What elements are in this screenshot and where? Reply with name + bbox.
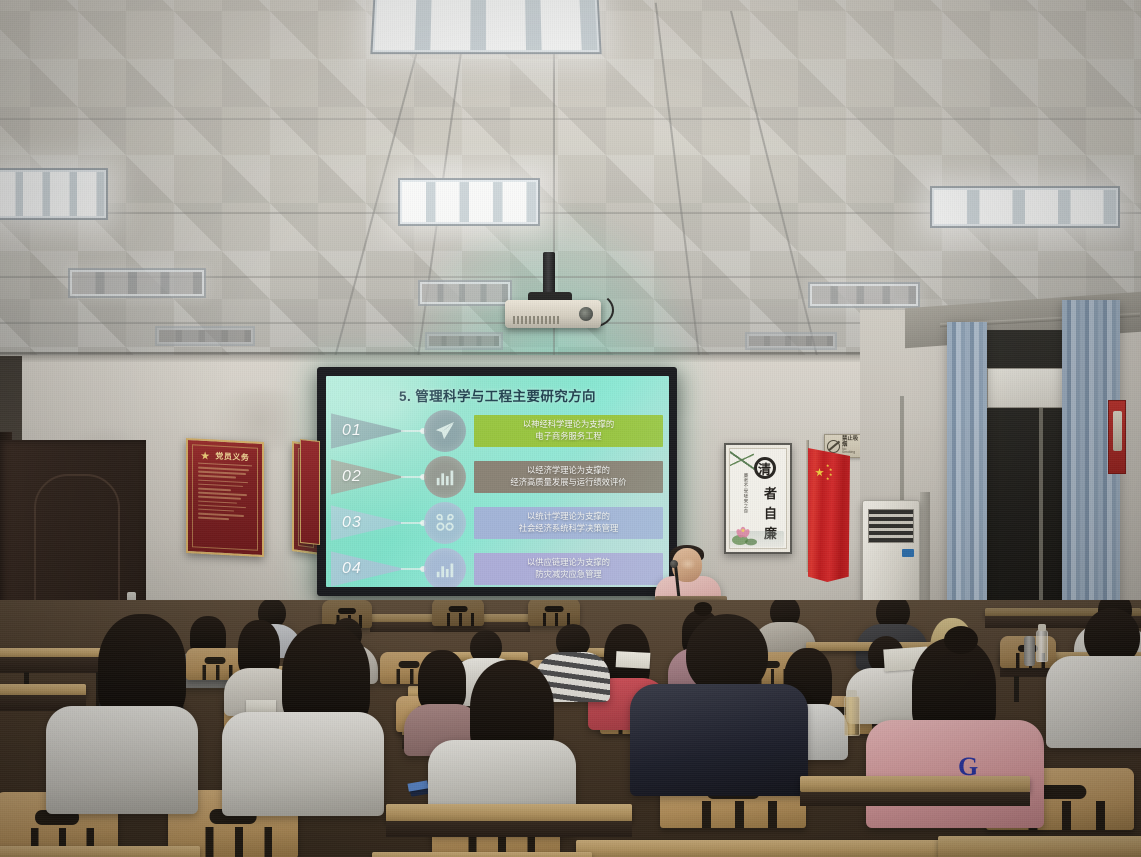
paper-plane-icon <box>424 410 466 452</box>
paper-handout[interactable] <box>616 651 651 669</box>
desk <box>372 852 592 857</box>
row-number-label: 01 <box>342 422 362 440</box>
slide-row: 01 以神经科学理论为支撑的 电子商务服务工程 <box>326 408 669 454</box>
bar-chart-icon <box>424 548 466 587</box>
no-smoking-icon <box>827 440 840 453</box>
person-torso <box>630 684 808 796</box>
bar-chart-icon <box>424 456 466 498</box>
calligraphy-side-text: 廉者不受嗟来之食 <box>742 473 749 514</box>
ceiling-light-panel <box>808 282 920 308</box>
calligraphy-char-1: 清 <box>758 459 771 478</box>
ceiling-light-panel <box>155 326 255 346</box>
no-smoking-labels: 禁止吸烟 No Smoking <box>842 437 860 455</box>
desk-leg <box>1014 676 1019 702</box>
person-hair-bun <box>694 602 712 616</box>
window-curtain[interactable] <box>947 322 987 640</box>
calligraphy-char-2: 者 <box>764 483 777 502</box>
desk-front-panel <box>800 792 1030 806</box>
ceiling-light-panel <box>745 332 837 350</box>
slide-title: 5. 管理科学与工程主要研究方向 <box>326 385 669 405</box>
row-text-bar: 以经济学理论为支撑的 经济高质量发展与运行绩效评价 <box>474 461 663 493</box>
window-transom-panel <box>987 368 1065 408</box>
water-bottle[interactable] <box>1036 630 1048 662</box>
ceiling-light-panel <box>398 178 540 226</box>
ac-badge <box>902 549 914 557</box>
row-number-label: 03 <box>342 514 362 532</box>
ceiling-light-panel <box>930 186 1120 228</box>
desk <box>938 836 1141 857</box>
row-number-label: 02 <box>342 468 362 486</box>
person-hair-bun <box>944 626 978 654</box>
party-member-duties-poster: 党员义务 <box>186 438 264 557</box>
ceiling-light-panel <box>0 168 108 220</box>
row-text-bar: 以统计学理论为支撑的 社会经济系统科学决策管理 <box>474 507 663 539</box>
row-line-1: 以经济学理论为支撑的 <box>527 465 610 477</box>
side-wall-poster <box>300 439 320 545</box>
person-torso <box>1046 656 1141 748</box>
row-line-1: 以供应链理论为支撑的 <box>527 557 610 569</box>
person-torso <box>222 712 384 816</box>
desk-front-panel <box>386 821 632 837</box>
bamboo-decoration <box>730 449 754 471</box>
row-line-2: 经济高质量发展与运行绩效评价 <box>510 477 626 489</box>
flag-star-small-icon <box>826 464 829 467</box>
row-number-triangle: 01 <box>331 410 405 452</box>
row-connector-line <box>401 476 423 478</box>
window-mullion <box>1039 408 1043 630</box>
flag-star-small-icon <box>826 477 829 480</box>
ceiling-light-panel <box>418 280 512 306</box>
left-wall-dark-panel <box>0 356 22 442</box>
ac-vent-louvers <box>868 509 914 543</box>
ceiling-grid-line <box>0 118 1141 119</box>
row-line-2: 防灾减灾应急管理 <box>535 569 601 581</box>
paper-handout[interactable] <box>246 700 276 712</box>
ceiling-light-panel <box>425 332 503 350</box>
thermos-flask[interactable] <box>1024 636 1035 666</box>
desk <box>386 804 632 822</box>
slide-row: 04 以供应链理论为支撑的 防灾减灾应急管理 <box>326 546 669 587</box>
poster-title: 党员义务 <box>198 450 252 467</box>
row-line-2: 电子商务服务工程 <box>535 431 601 443</box>
desk <box>0 846 200 857</box>
projector-vents <box>513 316 561 324</box>
water-bottle[interactable] <box>844 696 860 736</box>
projector-lens-icon <box>579 307 593 321</box>
presentation-slide: 5. 管理科学与工程主要研究方向 01 以神经科学理论为支撑的 电子商务服务工程 <box>326 376 669 587</box>
flag-star-large-icon <box>815 468 824 477</box>
person-torso <box>46 706 198 814</box>
lotus-flower-illustration <box>731 520 761 546</box>
ceiling-light-panel <box>68 268 206 298</box>
bottle-cap <box>1038 624 1046 631</box>
desk <box>576 840 946 857</box>
microphone-icon <box>670 560 678 568</box>
row-text-bar: 以供应链理论为支撑的 防灾减灾应急管理 <box>474 553 663 585</box>
lecture-hall-photo: 党员义务 5. 管理科学与工程主要研究方向 <box>0 0 1141 857</box>
row-text-bar: 以神经科学理论为支撑的 电子商务服务工程 <box>474 415 663 447</box>
no-smoking-label-en: No Smoking <box>842 448 860 455</box>
fire-extinguisher-cabinet <box>1108 400 1126 474</box>
ceiling-light-panel <box>370 0 601 54</box>
person-hair <box>418 650 466 712</box>
projection-screen: 5. 管理科学与工程主要研究方向 01 以神经科学理论为支撑的 电子商务服务工程 <box>317 367 677 596</box>
person-torso: G <box>866 720 1044 828</box>
audience-area: G <box>0 600 1141 857</box>
presenter-face-highlight <box>680 558 696 570</box>
row-line-1: 以统计学理论为支撑的 <box>527 511 610 523</box>
row-number-triangle: 02 <box>331 456 405 498</box>
bottle-cap <box>846 690 857 697</box>
slide-row: 03 以统计学理论为支撑的 社会经济系统科学决策管理 <box>326 500 669 546</box>
row-connector-line <box>401 522 423 524</box>
calligraphy-char-3: 自 <box>764 503 777 522</box>
flag-star-small-icon <box>829 473 832 476</box>
ac-conduit <box>900 396 904 500</box>
hammer-sickle-emblem <box>201 451 210 460</box>
poster-body-lines <box>198 467 252 522</box>
chair[interactable] <box>432 600 484 626</box>
poster-inner-border: 党员义务 <box>192 444 258 550</box>
row-line-1: 以神经科学理论为支撑的 <box>523 419 614 431</box>
row-connector-line <box>401 568 423 570</box>
row-connector-line <box>401 430 423 432</box>
desk-front-panel <box>0 657 110 673</box>
slide-content-rows: 01 以神经科学理论为支撑的 电子商务服务工程 02 <box>326 408 669 585</box>
ceiling-projector <box>505 300 601 328</box>
row-line-2: 社会经济系统科学决策管理 <box>519 523 619 535</box>
chair[interactable] <box>528 600 580 626</box>
slide-row: 02 以经济学理论为支撑的 经济高质量发展与运行绩效评价 <box>326 454 669 500</box>
desk <box>800 776 1030 792</box>
calligraphy-frame: 清 者 自 廉 廉者不受嗟来之食 <box>724 443 792 554</box>
china-national-flag <box>808 448 850 582</box>
row-number-label: 04 <box>342 560 362 578</box>
flag-stars <box>815 464 837 484</box>
four-petal-grid-icon <box>424 502 466 544</box>
row-number-triangle: 04 <box>331 548 405 587</box>
flag-star-small-icon <box>829 468 832 471</box>
row-number-triangle: 03 <box>331 502 405 544</box>
